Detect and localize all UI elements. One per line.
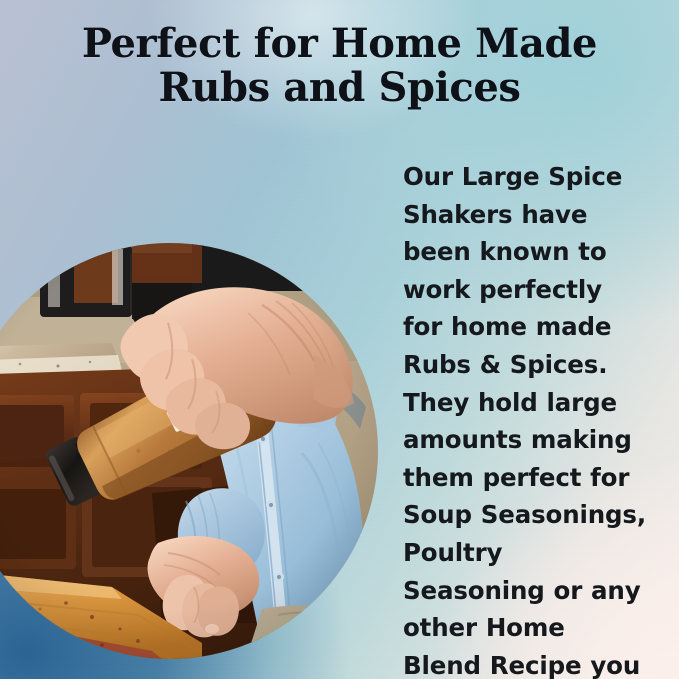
headline-line-1: Perfect for Home Made	[70, 22, 609, 66]
headline-line-2: Rubs and Spices	[70, 66, 609, 110]
promo-banner: Perfect for Home Made Rubs and Spices Ou…	[0, 0, 679, 679]
headline: Perfect for Home Made Rubs and Spices	[0, 22, 679, 110]
body-paragraph: Our Large Spice Shakers have been known …	[403, 158, 649, 679]
